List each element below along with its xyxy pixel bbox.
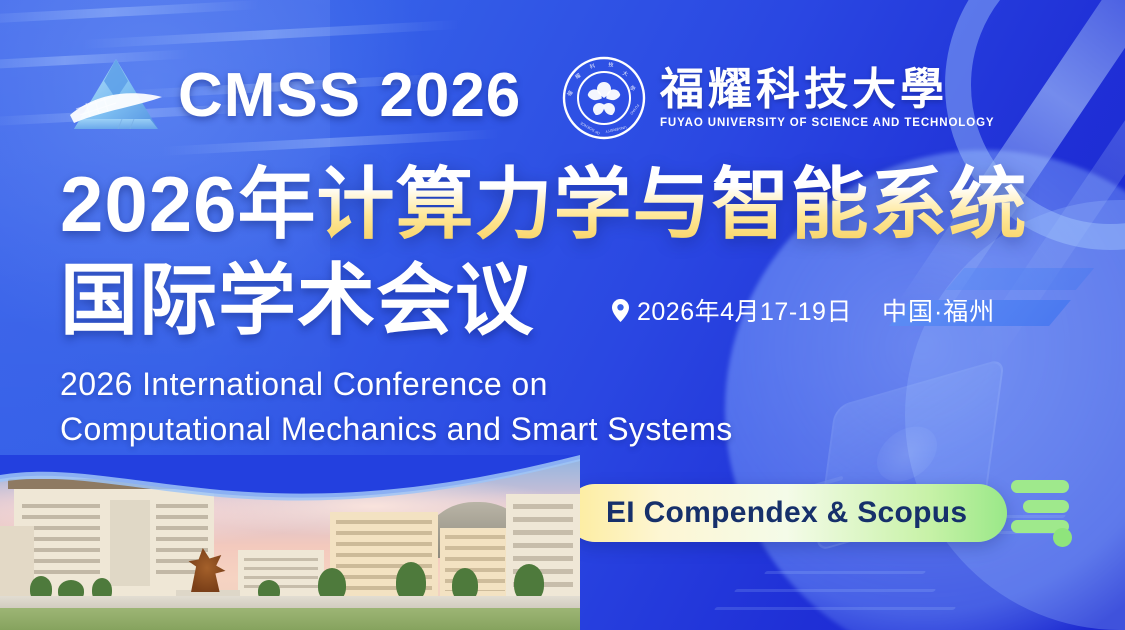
banner-header: CMSS 2026: [62, 46, 521, 146]
conference-acronym: CMSS 2026: [178, 65, 521, 127]
page-title: 2026年计算力学与智能系统 国际学术会议: [60, 158, 1028, 250]
fuyao-campus-photo: [0, 455, 580, 630]
svg-text:技: 技: [608, 60, 614, 68]
subtitle-en-line2: Computational Mechanics and Smart System…: [60, 407, 733, 452]
university-name-en: FUYAO UNIVERSITY OF SCIENCE AND TECHNOLO…: [660, 117, 995, 129]
event-date: 2026年4月17-19日: [637, 292, 852, 328]
title-cn-topic: 计算力学与智能系统: [317, 160, 1028, 248]
e-index-mark: [999, 478, 1077, 548]
svg-text:科: 科: [589, 61, 596, 70]
subtitle-en-line1: 2026 International Conference on: [60, 362, 733, 407]
fuyao-university-seal: 福 耀 科 技 大 學 FUYAO UNIVERSITY OF SCIENCE: [562, 56, 646, 140]
event-location: 中国·福州: [882, 292, 995, 328]
photo-wave-mask: [0, 455, 580, 515]
svg-text:大: 大: [622, 69, 630, 78]
location-pin-icon: [612, 299, 629, 322]
campus-building-center: [238, 550, 324, 598]
indexing-badge: EI Compendex & Scopus: [566, 484, 1007, 542]
university-identity: 福 耀 科 技 大 學 FUYAO UNIVERSITY OF SCIENCE …: [562, 50, 995, 146]
indexing-badge-group: EI Compendex & Scopus: [566, 484, 1077, 542]
cmss-triangle-logo: [62, 53, 170, 139]
ribbon-decoration-2: [946, 268, 1094, 290]
title-cn-year: 2026年: [60, 160, 317, 248]
indexing-badge-label: EI Compendex & Scopus: [606, 496, 967, 530]
svg-text:福: 福: [565, 89, 575, 98]
conference-banner: CMSS 2026 福 耀 科 技 大 學: [0, 0, 1125, 630]
svg-text:FUYAO: FUYAO: [629, 103, 640, 115]
event-meta: 2026年4月17-19日 中国·福州: [612, 292, 995, 328]
page-subtitle-en: 2026 International Conference on Computa…: [60, 362, 733, 453]
title-cn-line2: 国际学术会议: [60, 254, 534, 346]
university-name-cn: 福耀科技大學: [660, 67, 995, 113]
campus-building-left-wing: [0, 526, 34, 596]
